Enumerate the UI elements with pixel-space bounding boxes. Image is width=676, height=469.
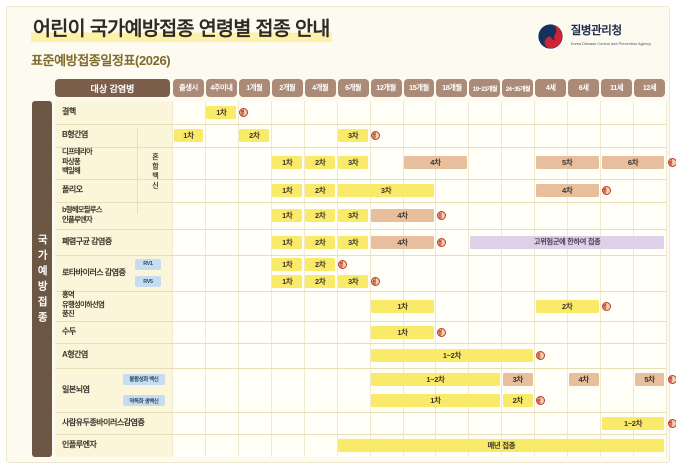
- completion-stamp-icon: 접종: [668, 158, 676, 167]
- schedule-cell[interactable]: 3차: [338, 236, 368, 249]
- schedule-cell[interactable]: 3차: [338, 275, 368, 288]
- disease-name: 로타바이러스 감염증: [62, 268, 125, 279]
- vaccine-type-chip: RV1: [135, 259, 161, 270]
- disease-name: 디프테리아 파상풍 백일해: [62, 147, 92, 176]
- combined-vaccine-column: 혼합백신: [137, 129, 172, 214]
- completion-stamp-icon: 접종: [602, 302, 611, 311]
- schedule-grid: 국가예방접종 대상 감염병출생시4주이내1개월2개월4개월6개월12개월15개월…: [32, 79, 666, 457]
- column-divider: [666, 101, 667, 457]
- schedule-cell[interactable]: 1차: [174, 129, 204, 142]
- table-header-row: 대상 감염병출생시4주이내1개월2개월4개월6개월12개월15개월18개월19~…: [32, 79, 666, 97]
- column-divider: [534, 101, 535, 457]
- header-age-column: 출생시: [173, 79, 204, 97]
- page-subtitle: 표준예방접종일정표(2026): [31, 50, 332, 69]
- national-immunization-spine: 국가예방접종: [32, 101, 52, 457]
- header-age-column: 6세: [568, 79, 599, 97]
- combined-vaccine-label: 혼합백신: [152, 153, 159, 191]
- schedule-card: 어린이 국가예방접종 연령별 접종 안내 표준예방접종일정표(2026) 질병관…: [6, 6, 670, 463]
- column-divider: [205, 101, 206, 457]
- schedule-cell[interactable]: 3차: [338, 129, 368, 142]
- kdca-taegeuk-icon: [537, 23, 564, 50]
- schedule-cell[interactable]: 매년 접종: [338, 439, 664, 452]
- completion-stamp-icon: 접종: [602, 186, 611, 195]
- disease-name: 인플루엔자: [62, 440, 96, 451]
- header-age-column: 11세: [601, 79, 632, 97]
- schedule-cell[interactable]: 2차: [536, 300, 599, 313]
- schedule-cell[interactable]: 1차: [371, 326, 434, 339]
- row-divider: [55, 368, 666, 369]
- schedule-cell[interactable]: 4차: [404, 156, 467, 169]
- column-divider: [567, 101, 568, 457]
- disease-name: 결핵: [62, 107, 76, 118]
- schedule-cell[interactable]: 1차: [371, 300, 434, 313]
- header-disease-name: 대상 감염병: [55, 79, 170, 97]
- vaccine-type-chip: 불활성화 백신: [123, 374, 165, 385]
- disease-name: 일본뇌염: [62, 385, 89, 396]
- header-age-column: 15개월: [404, 79, 435, 97]
- schedule-cell[interactable]: 1차: [272, 275, 302, 288]
- schedule-cell[interactable]: 2차: [305, 156, 335, 169]
- disease-name: 수두: [62, 327, 76, 338]
- completion-stamp-icon: 접종: [338, 260, 347, 269]
- completion-stamp-icon: 접종: [437, 211, 446, 220]
- completion-stamp-icon: 접종: [437, 238, 446, 247]
- schedule-cell[interactable]: 1차: [272, 184, 302, 197]
- schedule-cell[interactable]: 1차: [371, 394, 500, 407]
- schedule-cell[interactable]: 4차: [371, 209, 434, 222]
- completion-stamp-icon: 접종: [371, 131, 380, 140]
- header-age-column: 2개월: [272, 79, 303, 97]
- spine-label: 국가예방접종: [37, 232, 48, 327]
- header-age-column: 6개월: [338, 79, 369, 97]
- schedule-cell[interactable]: 3차: [338, 209, 368, 222]
- schedule-cell[interactable]: 1~2차: [602, 417, 665, 430]
- header-age-column: 12세: [634, 79, 665, 97]
- logo-name-en: Korea Disease Control and Prevention Age…: [571, 41, 651, 47]
- disease-name: 폴리오: [62, 185, 83, 196]
- row-divider: [55, 124, 666, 125]
- schedule-cell[interactable]: 2차: [305, 275, 335, 288]
- header-age-column: 24~35개월: [502, 79, 533, 97]
- page-title: 어린이 국가예방접종 연령별 접종 안내: [31, 19, 332, 42]
- schedule-cell[interactable]: 5차: [635, 373, 665, 386]
- schedule-cell[interactable]: 2차: [305, 209, 335, 222]
- header-age-column: 18개월: [436, 79, 467, 97]
- row-divider: [55, 229, 666, 230]
- header-age-column: 1개월: [239, 79, 270, 97]
- column-divider: [633, 101, 634, 457]
- row-divider: [55, 434, 666, 435]
- disease-name: A형간염: [62, 350, 88, 361]
- row-divider: [55, 202, 666, 203]
- logo-text: 질병관리청 Korea Disease Control and Preventi…: [571, 26, 651, 46]
- row-divider: [55, 321, 666, 322]
- disease-name: 폐렴구균 감염증: [62, 237, 112, 248]
- header-age-column: 4세: [535, 79, 566, 97]
- header-age-column: 4개월: [305, 79, 336, 97]
- row-divider: [55, 291, 666, 292]
- schedule-cell[interactable]: 4차: [371, 236, 434, 249]
- schedule-cell[interactable]: 1~2차: [371, 373, 500, 386]
- table-body: 혼합백신 결핵1차접종B형간염1차2차3차접종디프테리아 파상풍 백일해1차2차…: [55, 101, 666, 457]
- row-divider: [55, 412, 666, 413]
- schedule-cell[interactable]: 1차: [272, 236, 302, 249]
- header-age-column: 19~23개월: [469, 79, 500, 97]
- completion-stamp-icon: 접종: [668, 375, 676, 384]
- schedule-cell[interactable]: 2차: [305, 236, 335, 249]
- column-divider: [238, 101, 239, 457]
- schedule-cell[interactable]: 2차: [305, 258, 335, 271]
- schedule-cell[interactable]: 3차: [503, 373, 533, 386]
- schedule-cell[interactable]: 3차: [338, 156, 368, 169]
- schedule-cell[interactable]: 1차: [272, 258, 302, 271]
- schedule-cell[interactable]: 2차: [239, 129, 269, 142]
- schedule-cell[interactable]: 2차: [305, 184, 335, 197]
- header-age-column: 12개월: [371, 79, 402, 97]
- kdca-logo: 질병관리청 Korea Disease Control and Preventi…: [537, 23, 651, 50]
- header-age-column: 4주이내: [206, 79, 237, 97]
- schedule-cell[interactable]: 5차: [536, 156, 599, 169]
- schedule-cell[interactable]: 1차: [272, 209, 302, 222]
- column-divider: [600, 101, 601, 457]
- row-divider: [55, 179, 666, 180]
- schedule-cell[interactable]: 1차: [206, 106, 236, 119]
- schedule-cell[interactable]: 4차: [569, 373, 599, 386]
- vaccine-type-chip: RV5: [135, 276, 161, 287]
- row-divider: [55, 343, 666, 344]
- column-divider: [172, 101, 173, 457]
- schedule-cell[interactable]: 1~2차: [371, 349, 533, 362]
- disease-name: 사람유두종바이러스감염증: [62, 418, 144, 429]
- completion-stamp-icon: 접종: [668, 419, 676, 428]
- schedule-cell[interactable]: 1차: [272, 156, 302, 169]
- schedule-cell[interactable]: 고위험군에 한하여 접종: [470, 236, 665, 249]
- disease-name: 홍역 유행성이하선염 풍진: [62, 290, 104, 319]
- vaccine-type-chip: 약독화 생백신: [123, 395, 165, 406]
- logo-name-kr: 질병관리청: [571, 26, 651, 38]
- schedule-cell[interactable]: 3차: [338, 184, 434, 197]
- title-block: 어린이 국가예방접종 연령별 접종 안내 표준예방접종일정표(2026): [31, 19, 332, 69]
- disease-name: B형간염: [62, 130, 88, 141]
- disease-name: b형헤모필루스 인플루엔자: [62, 205, 102, 224]
- schedule-cell[interactable]: 2차: [503, 394, 533, 407]
- row-divider: [55, 147, 666, 148]
- row-divider: [55, 255, 666, 256]
- schedule-cell[interactable]: 4차: [536, 184, 599, 197]
- completion-stamp-icon: 접종: [536, 351, 545, 360]
- schedule-cell[interactable]: 6차: [602, 156, 665, 169]
- completion-stamp-icon: 접종: [437, 328, 446, 337]
